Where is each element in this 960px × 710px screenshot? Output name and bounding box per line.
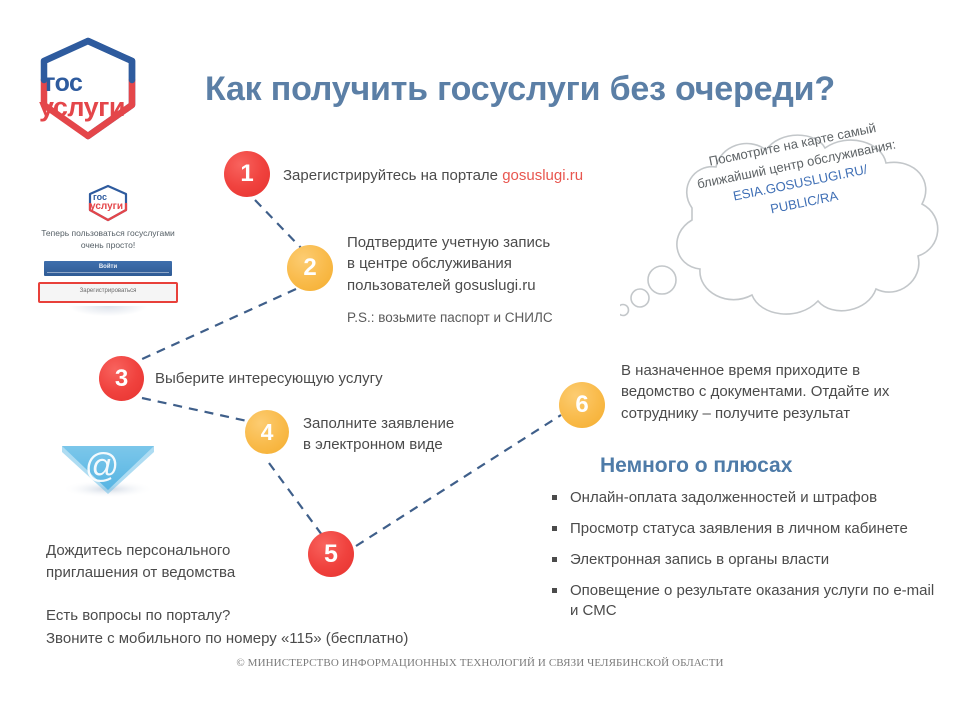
step-6-line-1: В назначенное время приходите в <box>621 360 889 381</box>
portal-card-blurb: Теперь пользоваться госуслугами очень пр… <box>38 227 178 252</box>
step-2-line-1: Подтвердите учетную запись <box>347 232 550 253</box>
benefit-item: Онлайн-оплата задолженностей и штрафов <box>548 488 940 508</box>
portal-card-logo-uslugi: услуги <box>90 202 123 212</box>
thought-bubble: Посмотрите на карте самый ближайший цент… <box>620 130 950 325</box>
step-2-ps-note: P.S.: возьмите паспорт и СНИЛС <box>347 310 553 325</box>
at-symbol-glyph: @ <box>85 447 120 485</box>
wait-line-1: Дождитесь персонального <box>46 540 235 562</box>
step-circle-5[interactable]: 5 <box>308 531 354 577</box>
benefits-title: Немного о плюсах <box>600 454 792 478</box>
connector-4-to-5 <box>269 463 322 535</box>
benefit-item: Электронная запись в органы власти <box>548 550 940 570</box>
portal-preview-card: гос услуги Теперь пользоваться госуслуга… <box>38 183 178 316</box>
email-envelope-icon: @ <box>56 432 160 504</box>
step-1-label: Зарегистрируйтесь на портале <box>283 167 502 184</box>
step-text-6: В назначенное время приходите в ведомств… <box>621 360 889 424</box>
step-2-line-3: пользователей gosuslugi.ru <box>347 275 550 296</box>
logo-word-uslugi: услуги <box>39 94 125 121</box>
wait-line-2: приглашения от ведомства <box>46 562 235 584</box>
portal-card-logo: гос услуги <box>85 183 131 223</box>
step-text-2: Подтвердите учетную запись в центре обсл… <box>347 232 550 296</box>
infographic-canvas: гос услуги Как получить госуслуги без оч… <box>0 0 960 710</box>
step-4-line-2: в электронном виде <box>303 434 454 455</box>
benefits-list: Онлайн-оплата задолженностей и штрафов П… <box>548 488 940 632</box>
questions-line-2: Звоните с мобильного по номеру «115» (бе… <box>46 628 408 651</box>
benefit-item: Просмотр статуса заявления в личном каби… <box>548 519 940 539</box>
step-text-1: Зарегистрируйтесь на портале gosuslugi.r… <box>283 165 583 186</box>
portal-register-button[interactable]: Зарегистрироваться <box>38 282 178 303</box>
step-2-line-2: в центре обслуживания <box>347 253 550 274</box>
step-circle-2[interactable]: 2 <box>287 245 333 291</box>
benefit-item: Оповещение о результате оказания услуги … <box>548 581 940 621</box>
connector-3-to-4 <box>142 398 247 421</box>
step-4-line-1: Заполните заявление <box>303 413 454 434</box>
footer-copyright: © МИНИСТЕРСТВО ИНФОРМАЦИОННЫХ ТЕХНОЛОГИЙ… <box>0 657 960 669</box>
step-circle-1[interactable]: 1 <box>224 151 270 197</box>
step-6-line-2: ведомство с документами. Отдайте их <box>621 381 889 402</box>
gosuslugi-link[interactable]: gosuslugi.ru <box>502 167 583 184</box>
questions-line-1: Есть вопросы по порталу? <box>46 605 408 628</box>
portal-card-shadow <box>69 306 147 316</box>
step-circle-4[interactable]: 4 <box>245 410 289 454</box>
step-circle-6[interactable]: 6 <box>559 382 605 428</box>
connector-1-to-2 <box>255 200 303 250</box>
page-title: Как получить госуслуги без очереди? <box>205 70 945 109</box>
step-text-3: Выберите интересующую услугу <box>155 368 383 389</box>
step-text-5: Дождитесь персонального приглашения от в… <box>46 540 235 584</box>
portal-login-button[interactable]: Войти <box>44 261 172 276</box>
questions-block: Есть вопросы по порталу? Звоните с мобил… <box>46 605 408 650</box>
step-6-line-3: сотруднику – получите результат <box>621 403 889 424</box>
gosuslugi-logo: гос услуги <box>28 35 148 145</box>
step-text-4: Заполните заявление в электронном виде <box>303 413 454 456</box>
step-circle-3[interactable]: 3 <box>99 356 144 401</box>
